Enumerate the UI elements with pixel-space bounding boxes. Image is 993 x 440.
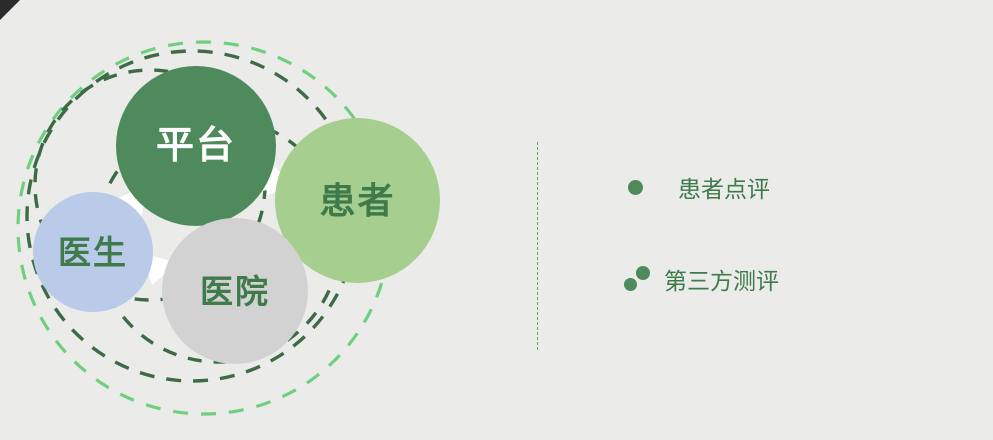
legend-item-third-party-review[interactable]: 第三方测评 — [620, 252, 980, 306]
legend-panel: 患者点评 第三方测评 — [500, 0, 993, 440]
node-platform-label: 平台 — [156, 127, 236, 165]
legend-item-patient-review[interactable]: 患者点评 — [620, 160, 980, 214]
legend-item-patient-review-label: 患者点评 — [678, 170, 770, 204]
node-patient-label: 患者 — [319, 183, 395, 219]
legend-item-third-party-review-label: 第三方测评 — [664, 262, 779, 296]
legend-list: 患者点评 第三方测评 — [620, 160, 980, 344]
node-doctor[interactable]: 医生 — [33, 192, 153, 312]
double-dot-icon — [620, 259, 660, 299]
node-doctor-label: 医生 — [58, 236, 128, 269]
node-hospital[interactable]: 医院 — [162, 218, 308, 364]
node-hospital-label: 医院 — [200, 275, 270, 308]
node-platform[interactable]: 平台 — [116, 66, 276, 226]
relationship-diagram: 平台 患者 医生 医院 — [0, 0, 500, 440]
legend-divider — [537, 142, 538, 350]
infographic-stage: 平台 患者 医生 医院 患者点评 — [0, 0, 993, 440]
single-dot-icon — [620, 167, 660, 207]
